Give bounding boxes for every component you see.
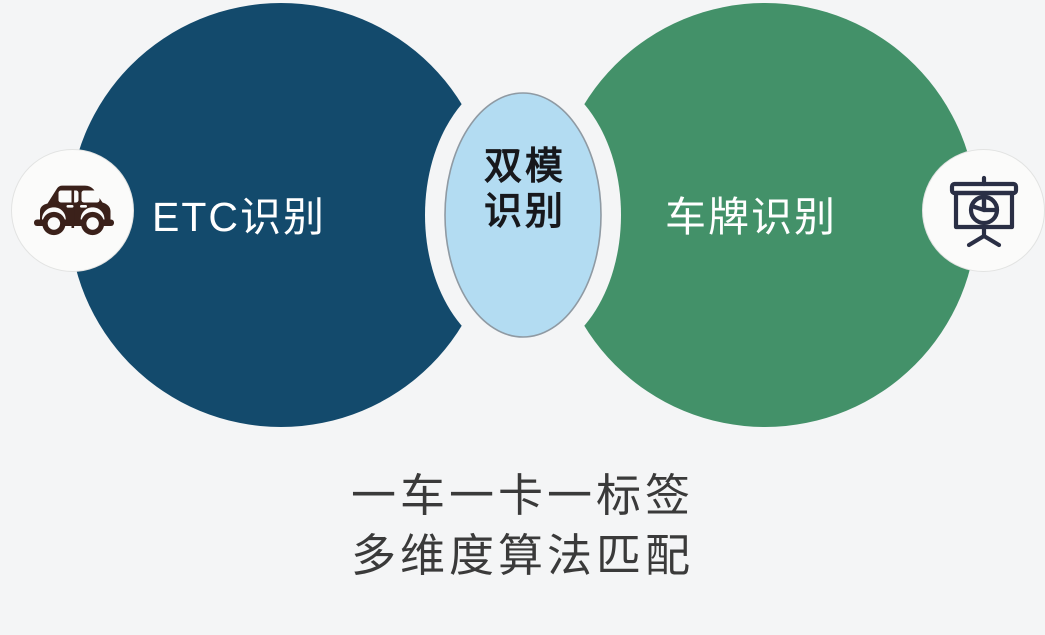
right-circle — [553, 3, 977, 427]
presentation-pie-chart-icon — [945, 172, 1023, 250]
presentation-pie-chart-icon-badge — [922, 149, 1045, 272]
car-icon — [30, 181, 116, 241]
right-circle-group — [553, 3, 977, 427]
venn-diagram-svg — [0, 0, 1045, 635]
venn-diagram-stage: ETC识别 车牌识别 双模 识别 一车一卡一标签 多维度算法匹配 — [0, 0, 1045, 635]
center-ellipse — [445, 93, 601, 337]
car-icon-badge — [11, 149, 134, 272]
